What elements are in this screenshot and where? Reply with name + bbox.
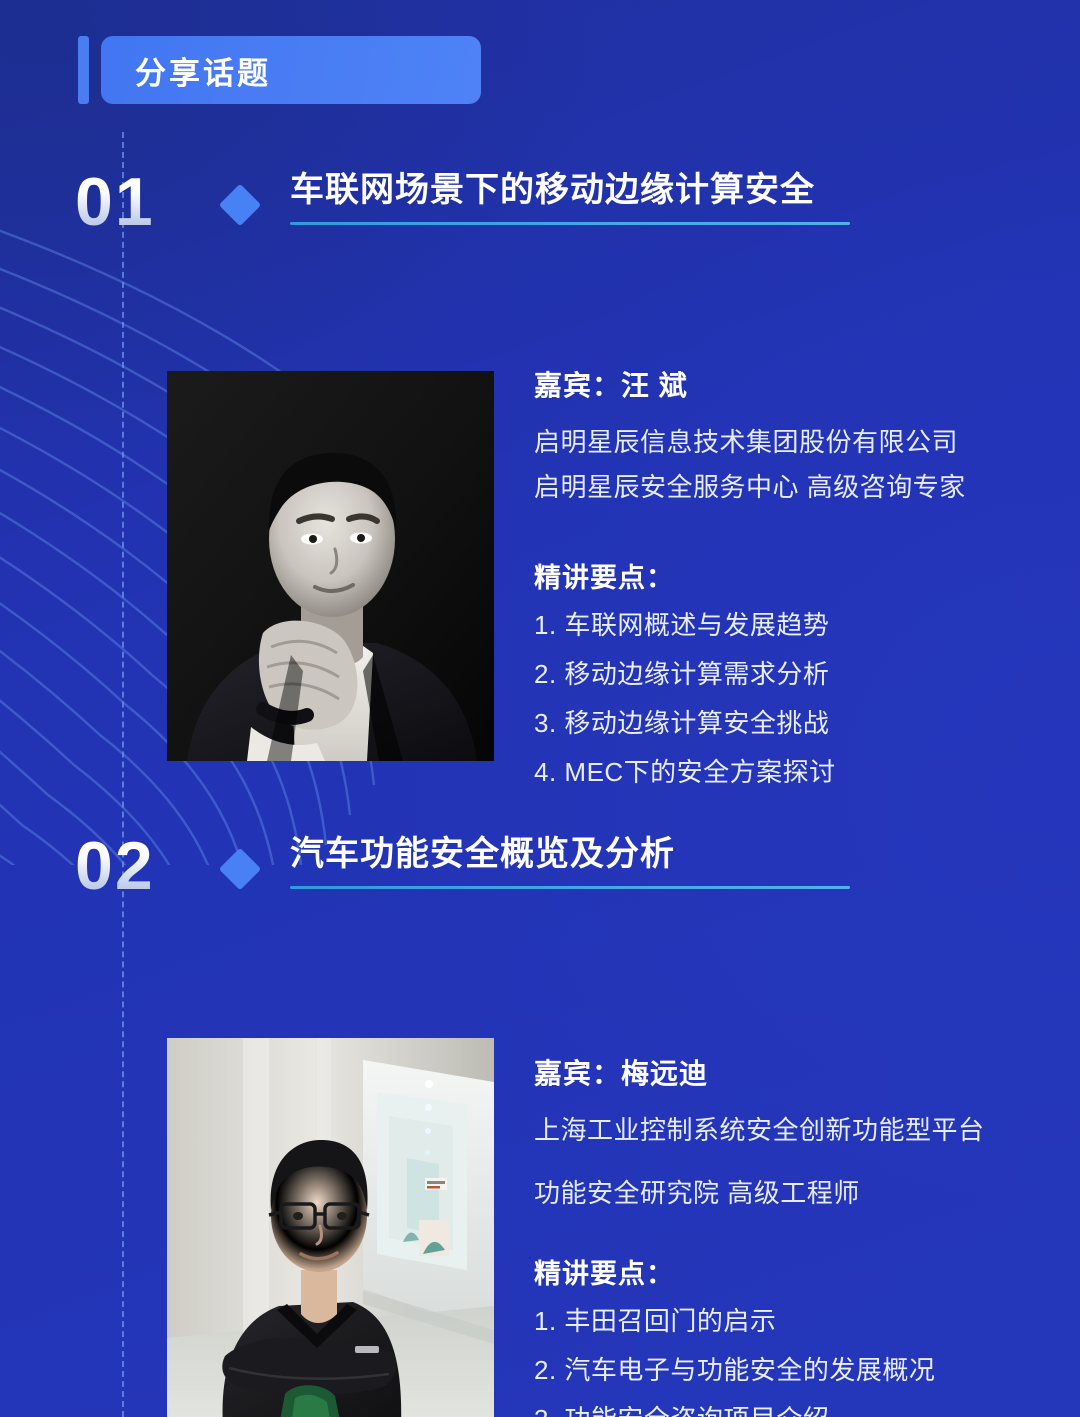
speaker-2-photo: [167, 1038, 494, 1417]
topic-section-2: 02 汽车功能安全概览及分析: [0, 836, 1080, 912]
section-2-title: 汽车功能安全概览及分析: [290, 834, 850, 875]
section-1-underline: [290, 222, 850, 225]
speaker-1-point-3: 3. 移动边缘计算安全挑战: [534, 703, 1054, 740]
share-topic-label: 分享话题: [135, 48, 271, 93]
section-2-underline: [290, 886, 850, 889]
speaker-1-point-2: 2. 移动边缘计算需求分析: [534, 654, 1054, 691]
speaker-1-name: 嘉宾：汪 斌: [534, 364, 1054, 404]
speaker-2-org-line-1: 上海工业控制系统安全创新功能型平台: [534, 1110, 1054, 1147]
dashed-guide-line: [122, 132, 124, 1417]
speaker-1-point-4: 4. MEC下的安全方案探讨: [534, 752, 1054, 789]
speaker-2-org-line-2: 功能安全研究院 高级工程师: [534, 1173, 1054, 1210]
section-2-number: 02: [75, 832, 155, 900]
section-1-number: 01: [75, 168, 155, 236]
speaker-2-point-3: 3. 功能安全咨询项目介绍: [534, 1399, 1054, 1417]
header: 分享话题: [78, 36, 481, 104]
speaker-1-point-1: 1. 车联网概述与发展趋势: [534, 605, 1054, 642]
diamond-bullet-icon: [219, 184, 261, 226]
section-1-header: 01 车联网场景下的移动边缘计算安全: [0, 172, 1080, 248]
speaker-1-org-line-1: 启明星辰信息技术集团股份有限公司: [534, 422, 1054, 459]
speaker-1-org-line-2: 启明星辰安全服务中心 高级咨询专家: [534, 467, 1054, 504]
speaker-2-points-title: 精讲要点：: [534, 1252, 1054, 1291]
speaker-2-info: 嘉宾：梅远迪 上海工业控制系统安全创新功能型平台 功能安全研究院 高级工程师 精…: [534, 1052, 1054, 1417]
poster-canvas: 分享话题 01 车联网场景下的移动边缘计算安全: [0, 0, 1080, 1417]
share-topic-badge: 分享话题: [101, 36, 481, 104]
speaker-2-point-1: 1. 丰田召回门的启示: [534, 1301, 1054, 1338]
speaker-1-points-title: 精讲要点：: [534, 556, 1054, 595]
speaker-1-info: 嘉宾：汪 斌 启明星辰信息技术集团股份有限公司 启明星辰安全服务中心 高级咨询专…: [534, 364, 1054, 801]
section-1-title: 车联网场景下的移动边缘计算安全: [290, 170, 850, 211]
speaker-2-point-2: 2. 汽车电子与功能安全的发展概况: [534, 1350, 1054, 1387]
section-1-title-wrap: 车联网场景下的移动边缘计算安全: [290, 170, 850, 225]
diamond-bullet-icon: [219, 848, 261, 890]
speaker-1-photo: [167, 371, 494, 761]
header-accent-bar: [78, 36, 89, 104]
section-2-header: 02 汽车功能安全概览及分析: [0, 836, 1080, 912]
topic-section-1: 01 车联网场景下的移动边缘计算安全: [0, 172, 1080, 248]
section-2-title-wrap: 汽车功能安全概览及分析: [290, 834, 850, 889]
speaker-2-name: 嘉宾：梅远迪: [534, 1052, 1054, 1092]
